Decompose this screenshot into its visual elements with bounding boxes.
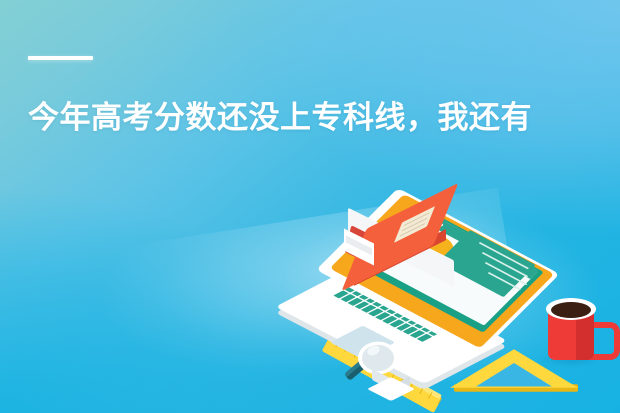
- illustration-education-desk: [318, 186, 620, 413]
- banner-image: 今年高考分数还没上专科线，我还有: [0, 0, 620, 413]
- mug-coffee-surface: [551, 302, 591, 318]
- decorative-rule: [28, 56, 93, 60]
- page-title: 今年高考分数还没上专科线，我还有: [28, 96, 620, 140]
- triangle-ruler-cutout: [476, 363, 552, 387]
